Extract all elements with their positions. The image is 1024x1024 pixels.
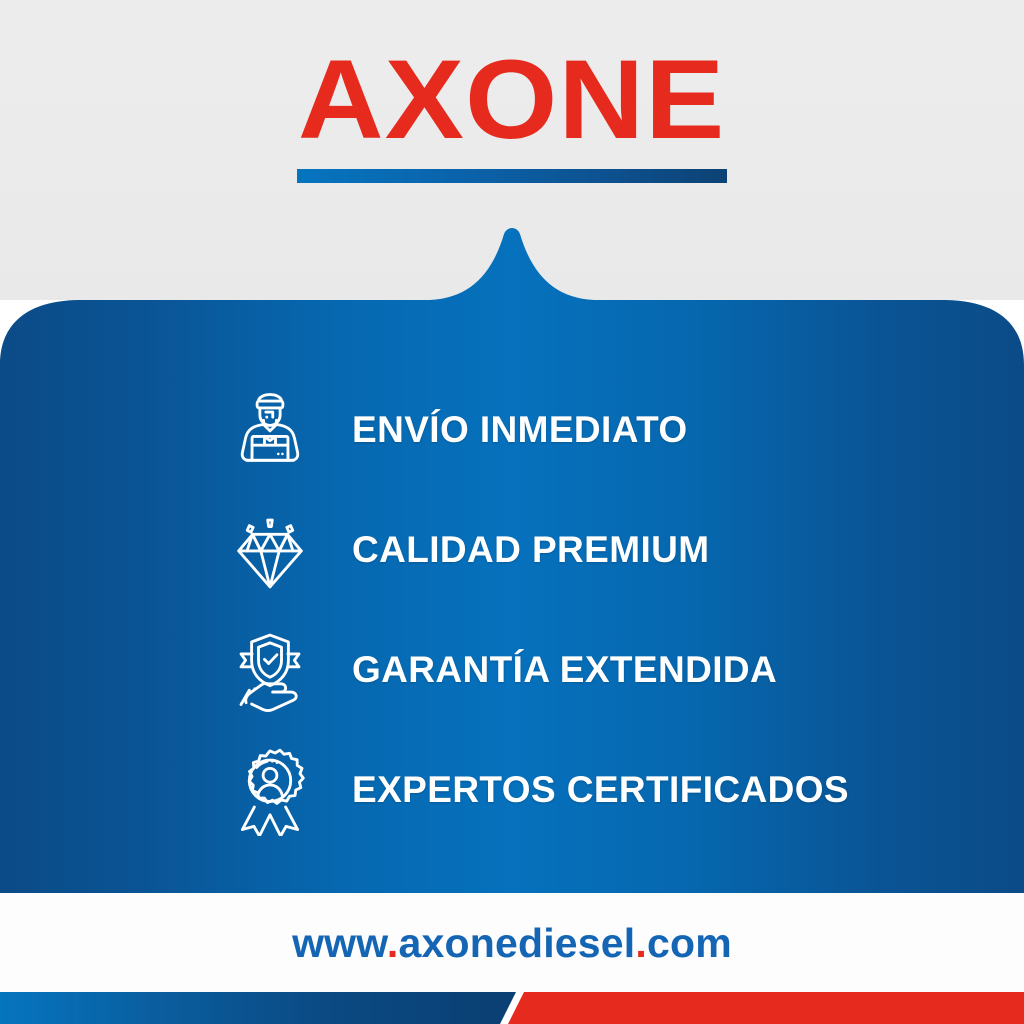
- brand-underline-rule: [297, 169, 727, 183]
- feature-item[interactable]: EXPERTOS CERTIFICADOS: [0, 730, 1024, 850]
- promo-poster: AXONE: [0, 0, 1024, 1024]
- feature-label: GARANTÍA EXTENDIDA: [352, 650, 777, 690]
- feature-label: CALIDAD PREMIUM: [352, 530, 709, 570]
- feature-list: ENVÍO INMEDIATO: [0, 370, 1024, 850]
- url-dot-separator: .: [387, 920, 399, 966]
- website-strip: www.axonediesel.com: [0, 893, 1024, 992]
- website-url[interactable]: www.axonediesel.com: [292, 921, 732, 965]
- url-domain: axonediesel: [398, 920, 635, 966]
- shield-check-hand-icon: [222, 622, 318, 718]
- award-rosette-person-icon: [222, 742, 318, 838]
- diamond-gem-icon: [222, 502, 318, 598]
- url-dot-separator: .: [635, 920, 647, 966]
- feature-item[interactable]: GARANTÍA EXTENDIDA: [0, 610, 1024, 730]
- footer-accent-shape: [0, 992, 1024, 1024]
- footer-accent-bar: [0, 992, 1024, 1024]
- feature-label: ENVÍO INMEDIATO: [352, 410, 688, 450]
- brand-wordmark: AXONE: [298, 44, 725, 156]
- url-prefix: www: [292, 920, 387, 966]
- url-tld: com: [647, 920, 732, 966]
- feature-label: EXPERTOS CERTIFICADOS: [352, 770, 849, 810]
- delivery-person-box-icon: [222, 382, 318, 478]
- feature-item[interactable]: ENVÍO INMEDIATO: [0, 370, 1024, 490]
- feature-item[interactable]: CALIDAD PREMIUM: [0, 490, 1024, 610]
- brand-logo: AXONE: [0, 44, 1024, 183]
